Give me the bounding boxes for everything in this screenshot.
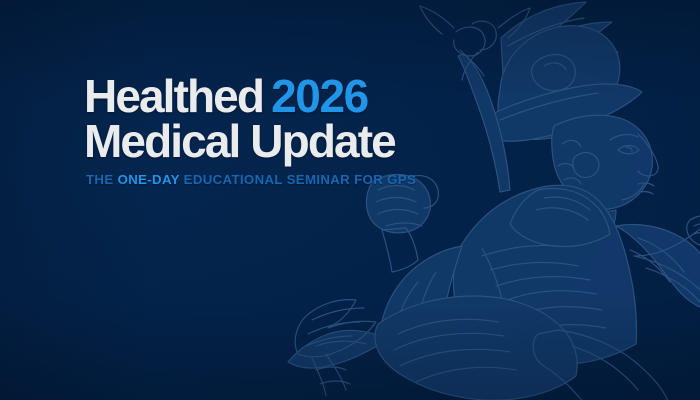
tagline-accent: ONE-DAY <box>118 172 180 187</box>
hermes-mercury-line-art-icon <box>286 0 700 400</box>
event-tagline: THE ONE-DAY EDUCATIONAL SEMINAR FOR GPS <box>86 173 504 187</box>
title-lockup: Healthed2026 Medical Update THE ONE-DAY … <box>84 74 504 187</box>
tagline-suffix: EDUCATIONAL SEMINAR FOR GPS <box>180 172 417 187</box>
page-title: Healthed2026 Medical Update <box>84 74 504 164</box>
event-promo-banner: Healthed2026 Medical Update THE ONE-DAY … <box>0 0 700 400</box>
tagline-prefix: THE <box>86 172 118 187</box>
event-name: Medical Update <box>84 119 504 164</box>
